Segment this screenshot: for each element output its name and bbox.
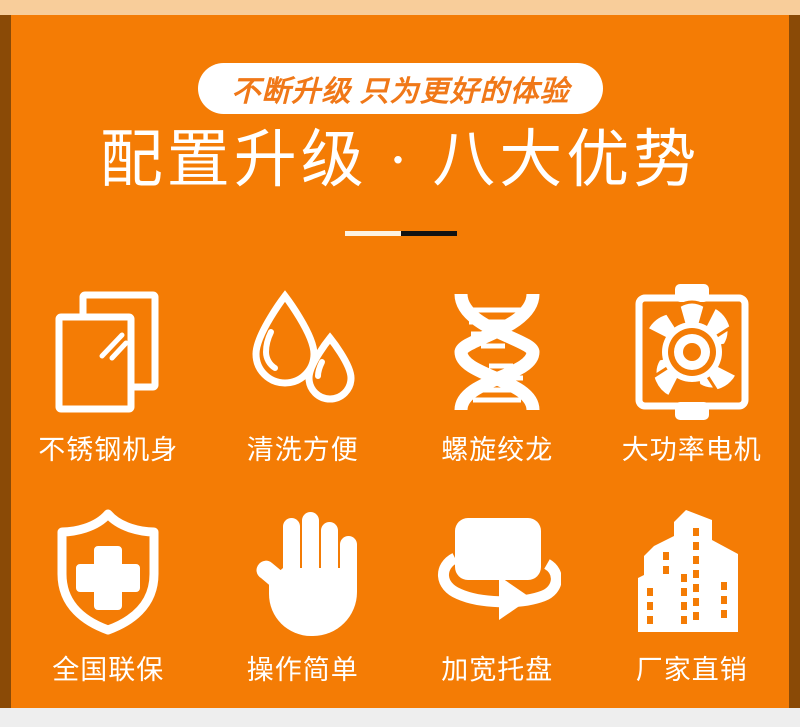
feature-label: 螺旋绞龙 — [441, 428, 553, 467]
divider-light-segment — [345, 231, 401, 236]
feature-label: 厂家直销 — [636, 648, 748, 687]
feature-label: 全国联保 — [52, 648, 164, 687]
water-droplets-icon — [238, 282, 368, 422]
title-divider — [345, 231, 457, 236]
feature-label: 大功率电机 — [622, 428, 762, 467]
headline-badge-text: 不断升级 只为更好的体验 — [231, 68, 569, 110]
feature-label: 不锈钢机身 — [38, 428, 178, 467]
feature-item-easy-cleaning: 清洗方便 — [206, 282, 401, 502]
feature-item-widened-tray: 加宽托盘 — [400, 502, 595, 722]
left-brown-edge-bar — [0, 15, 11, 708]
feature-label: 操作简单 — [247, 648, 359, 687]
stacked-steel-plates-icon — [43, 282, 173, 422]
high-power-motor-fan-icon — [627, 282, 757, 422]
shield-cross-warranty-icon — [43, 502, 173, 642]
headline-badge-pill: 不断升级 只为更好的体验 — [198, 63, 603, 114]
feature-item-stainless-steel-body: 不锈钢机身 — [11, 282, 206, 502]
promotional-poster: 不断升级 只为更好的体验 配置升级 · 八大优势 不锈钢机身 — [0, 0, 800, 727]
divider-dark-segment — [401, 231, 457, 236]
feature-row-1: 不锈钢机身 清洗方便 — [11, 282, 789, 502]
right-brown-edge-bar — [789, 15, 800, 708]
feature-item-spiral-auger: 螺旋绞龙 — [400, 282, 595, 502]
open-hand-palm-icon — [238, 502, 368, 642]
spiral-auger-helix-icon — [432, 282, 562, 422]
feature-row-2: 全国联保 操作简单 — [11, 502, 789, 722]
factory-buildings-icon — [627, 502, 757, 642]
feature-label: 加宽托盘 — [441, 648, 553, 687]
feature-item-high-power-motor: 大功率电机 — [595, 282, 790, 502]
feature-item-factory-direct-sales: 厂家直销 — [595, 502, 790, 722]
feature-item-national-warranty: 全国联保 — [11, 502, 206, 722]
top-peach-band — [0, 0, 800, 15]
page-title: 配置升级 · 八大优势 — [0, 120, 800, 200]
feature-item-simple-operation: 操作简单 — [206, 502, 401, 722]
feature-label: 清洗方便 — [247, 428, 359, 467]
feature-grid: 不锈钢机身 清洗方便 — [11, 282, 789, 722]
wide-tray-rotate-arrow-icon — [432, 502, 562, 642]
